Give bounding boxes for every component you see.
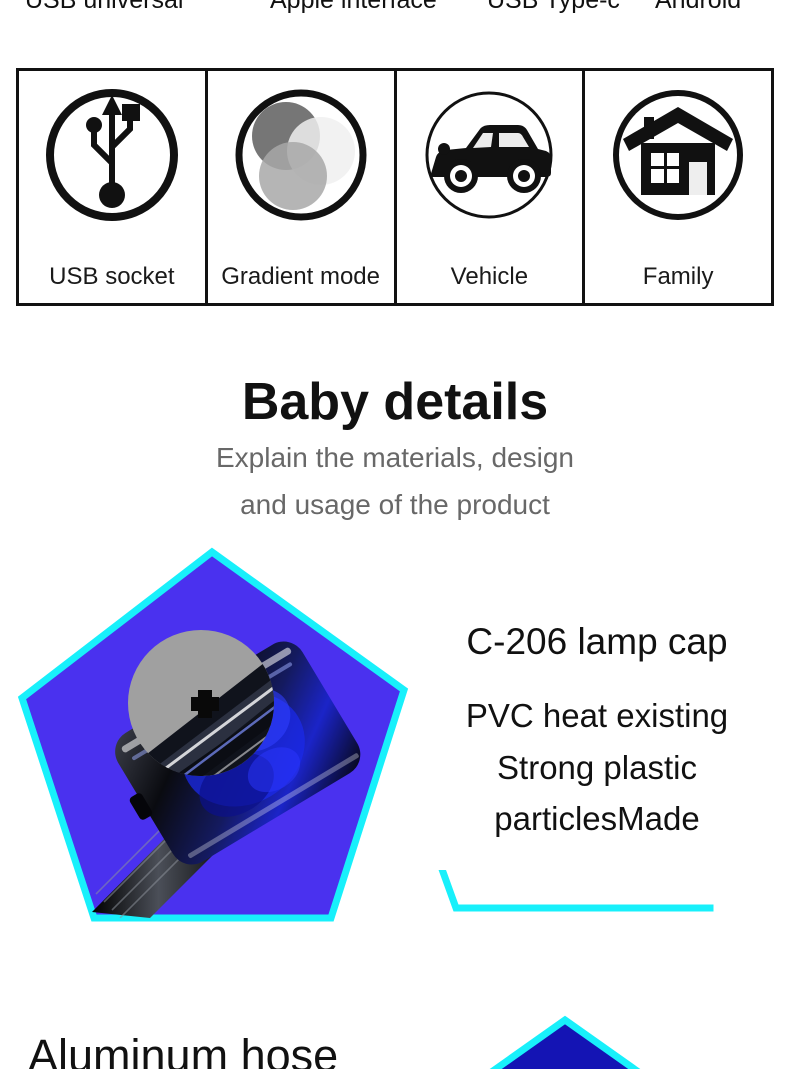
connector-label-android: Android <box>655 0 741 15</box>
aluminum-hose-pentagon <box>440 1015 690 1069</box>
feature-cell-vehicle: Vehicle <box>397 71 586 303</box>
page-title: Baby details <box>0 375 790 430</box>
feature-label-usb-socket: USB socket <box>19 263 205 291</box>
feature-cell-family: Family <box>585 71 771 303</box>
usb-socket-icon <box>37 81 187 233</box>
section-heading: Baby details Explain the materials, desi… <box>0 375 790 525</box>
product-detail-page: USB universal Apple interface USB Type-c… <box>0 0 790 1069</box>
feature-label-gradient-mode: Gradient mode <box>208 263 394 291</box>
vehicle-icon <box>414 81 564 233</box>
page-subtitle-line1: Explain the materials, design <box>0 438 790 478</box>
lamp-cap-detail-text: C-206 lamp cap PVC heat existing Strong … <box>404 620 790 845</box>
page-subtitle-line2: and usage of the product <box>0 485 790 525</box>
feature-table: USB socket Gradient mode <box>16 68 774 306</box>
gradient-mode-icon <box>226 81 376 233</box>
lamp-cap-photo-pentagon <box>0 540 430 950</box>
feature-cell-usb-socket: USB socket <box>19 71 208 303</box>
connector-label-row: USB universal Apple interface USB Type-c… <box>0 0 790 14</box>
cyan-pointer-line <box>400 870 730 930</box>
aluminum-hose-title: Aluminum hose <box>28 1030 338 1069</box>
family-house-icon <box>603 81 753 233</box>
connector-label-apple-interface: Apple interface <box>270 0 437 15</box>
connector-label-usb-type-c: USB Type-c <box>487 0 620 15</box>
feature-cell-gradient-mode: Gradient mode <box>208 71 397 303</box>
feature-label-vehicle: Vehicle <box>397 263 583 291</box>
connector-label-usb-universal: USB universal <box>25 0 183 15</box>
lamp-cap-title: C-206 lamp cap <box>404 620 790 664</box>
lamp-cap-desc-line1: PVC heat existing <box>404 690 790 741</box>
lamp-cap-desc-line3: particlesMade <box>404 793 790 844</box>
feature-label-family: Family <box>585 263 771 291</box>
lamp-cap-desc-line2: Strong plastic <box>404 742 790 793</box>
